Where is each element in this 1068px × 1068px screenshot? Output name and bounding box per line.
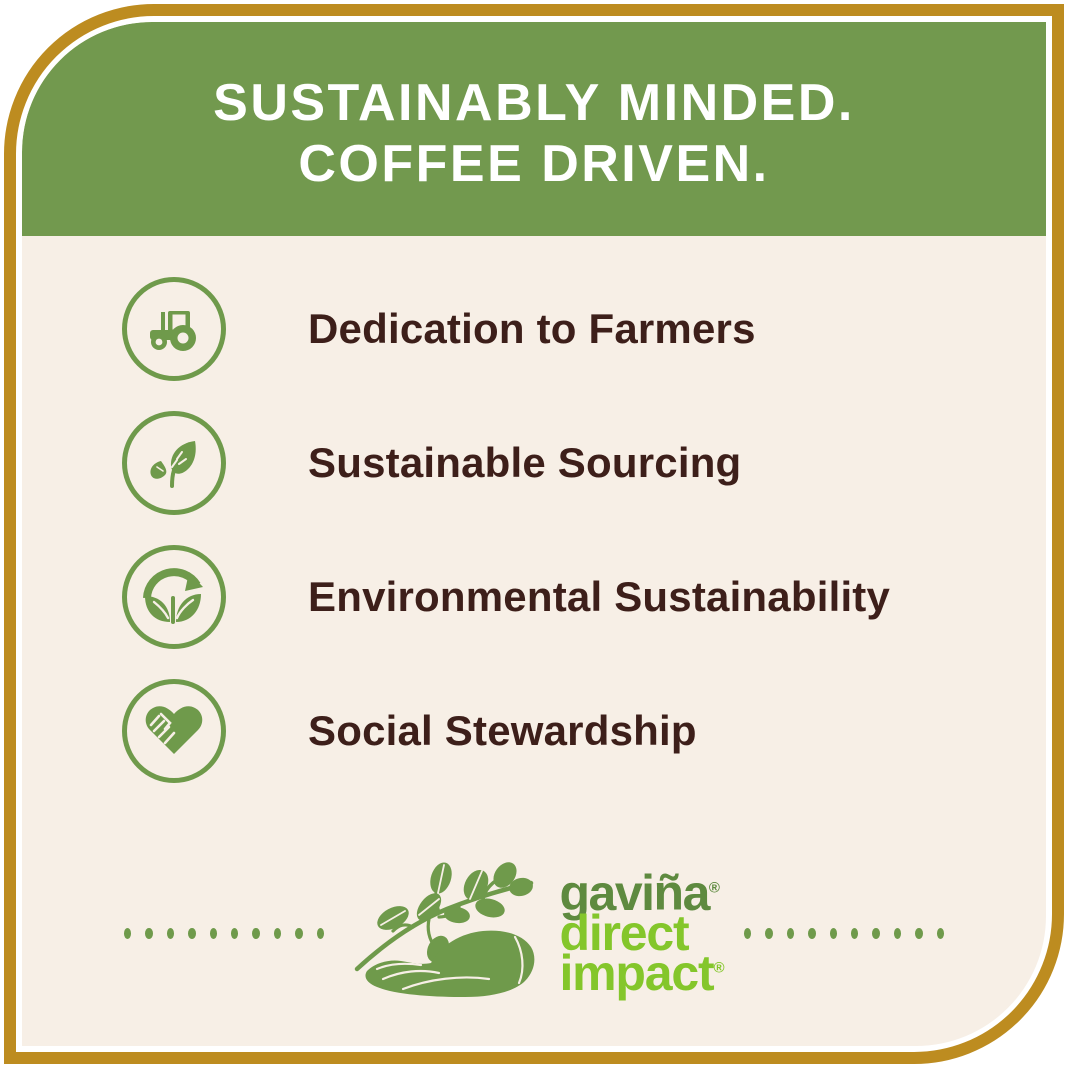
dot xyxy=(787,928,794,939)
gavina-direct-impact-logo: gaviña® direct impact® xyxy=(324,861,744,1006)
logo-word-impact: impact® xyxy=(559,953,724,993)
tractor-icon xyxy=(122,277,226,381)
pillar-label: Sustainable Sourcing xyxy=(308,439,741,487)
recycle-leaves-icon xyxy=(122,545,226,649)
pillar-label: Environmental Sustainability xyxy=(308,573,890,621)
dot xyxy=(894,928,901,939)
dot xyxy=(295,928,302,939)
logo-row: gaviña® direct impact® xyxy=(22,848,1046,1018)
logo-word-impact-text: impact xyxy=(559,945,713,1001)
content-card: SUSTAINABLY MINDED. COFFEE DRIVEN. xyxy=(22,22,1046,1046)
hand-holding-branch-icon xyxy=(343,861,553,1006)
header-title-line-2: COFFEE DRIVEN. xyxy=(298,134,769,195)
dot xyxy=(915,928,922,939)
dot xyxy=(274,928,281,939)
dot xyxy=(231,928,238,939)
dot xyxy=(124,928,131,939)
pillar-item-sustainable-sourcing: Sustainable Sourcing xyxy=(22,396,1046,530)
header-title-line-1: SUSTAINABLY MINDED. xyxy=(213,73,855,134)
dot xyxy=(872,928,879,939)
leaf-sprout-icon xyxy=(122,411,226,515)
dot xyxy=(830,928,837,939)
dot xyxy=(765,928,772,939)
header-banner: SUSTAINABLY MINDED. COFFEE DRIVEN. xyxy=(22,22,1046,236)
dot xyxy=(167,928,174,939)
dot xyxy=(210,928,217,939)
handshake-heart-icon xyxy=(122,679,226,783)
dot xyxy=(744,928,751,939)
pillar-label: Social Stewardship xyxy=(308,707,697,755)
pillar-list: Dedication to Farmers Sustainable So xyxy=(22,262,1046,798)
dot xyxy=(188,928,195,939)
logo-wordmark: gaviña® direct impact® xyxy=(559,873,724,993)
pillar-label: Dedication to Farmers xyxy=(308,305,756,353)
registered-mark-icon: ® xyxy=(713,959,724,976)
pillar-item-dedication-to-farmers: Dedication to Farmers xyxy=(22,262,1046,396)
dot xyxy=(252,928,259,939)
pillar-item-environmental-sustainability: Environmental Sustainability xyxy=(22,530,1046,664)
dot-decoration-right xyxy=(744,928,944,939)
pillar-item-social-stewardship: Social Stewardship xyxy=(22,664,1046,798)
dot xyxy=(145,928,152,939)
dot xyxy=(851,928,858,939)
dot xyxy=(317,928,324,939)
dot xyxy=(937,928,944,939)
registered-mark-icon: ® xyxy=(709,879,720,896)
poster-frame: SUSTAINABLY MINDED. COFFEE DRIVEN. xyxy=(0,0,1068,1068)
dot xyxy=(808,928,815,939)
dot-decoration-left xyxy=(124,928,324,939)
